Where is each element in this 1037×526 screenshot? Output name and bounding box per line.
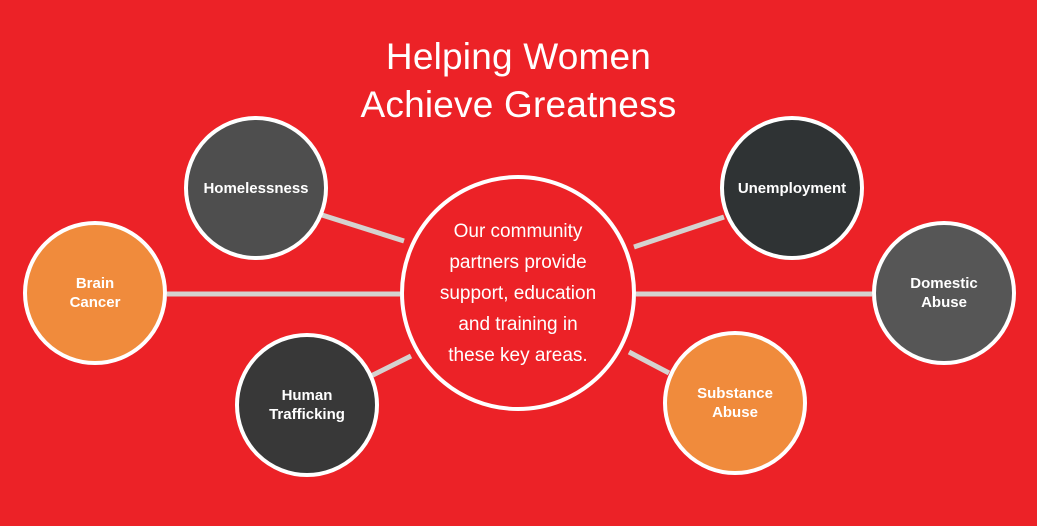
node-homelessness[interactable]: Homelessness: [184, 116, 328, 260]
node-label-domestic-abuse: Domestic Abuse: [904, 274, 984, 312]
infographic-canvas: Helping Women Achieve Greatness Brain Ca…: [0, 0, 1037, 526]
page-title: Helping Women Achieve Greatness: [0, 33, 1037, 129]
node-domestic-abuse[interactable]: Domestic Abuse: [872, 221, 1016, 365]
center-to-homelessness: [322, 215, 404, 241]
center-node-label: Our community partners provide support, …: [426, 216, 610, 371]
node-substance-abuse[interactable]: Substance Abuse: [663, 331, 807, 475]
node-label-substance-abuse: Substance Abuse: [691, 384, 779, 422]
center-node[interactable]: Our community partners provide support, …: [400, 175, 636, 411]
node-label-unemployment: Unemployment: [732, 179, 852, 198]
center-to-human-trafficking: [371, 356, 411, 376]
node-human-trafficking[interactable]: Human Trafficking: [235, 333, 379, 477]
node-label-homelessness: Homelessness: [197, 179, 314, 198]
node-label-brain-cancer: Brain Cancer: [64, 274, 127, 312]
center-to-substance-abuse: [629, 352, 669, 373]
node-label-human-trafficking: Human Trafficking: [263, 386, 351, 424]
center-to-unemployment: [634, 217, 724, 247]
node-unemployment[interactable]: Unemployment: [720, 116, 864, 260]
node-brain-cancer[interactable]: Brain Cancer: [23, 221, 167, 365]
